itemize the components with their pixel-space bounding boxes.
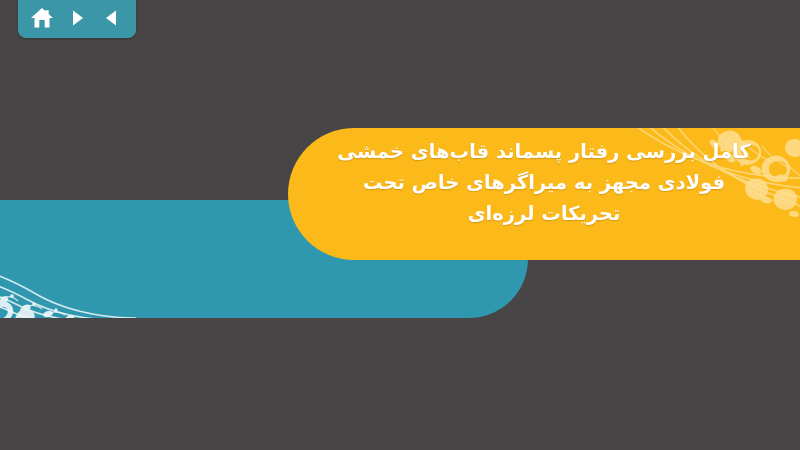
arabesque-ornament (0, 200, 150, 318)
title-line-1: کامل بررسی رفتار پسماند قاب‌های خمشی (316, 136, 772, 167)
title-line-3: تحریکات لرزه‌ای (316, 198, 772, 229)
slide-title: کامل بررسی رفتار پسماند قاب‌های خمشی فول… (288, 128, 800, 229)
slide-canvas: کامل بررسی رفتار پسماند قاب‌های خمشی فول… (0, 0, 800, 450)
forward-button[interactable] (62, 4, 92, 32)
orange-banner: کامل بررسی رفتار پسماند قاب‌های خمشی فول… (288, 128, 800, 260)
back-button[interactable] (97, 4, 127, 32)
back-arrow-icon (102, 8, 122, 28)
home-icon (30, 7, 54, 29)
title-line-2: فولادی مجهز به میراگرهای خاص تحت (316, 167, 772, 198)
home-button[interactable] (27, 4, 57, 32)
navigation-bar (18, 0, 136, 38)
forward-arrow-icon (67, 8, 87, 28)
